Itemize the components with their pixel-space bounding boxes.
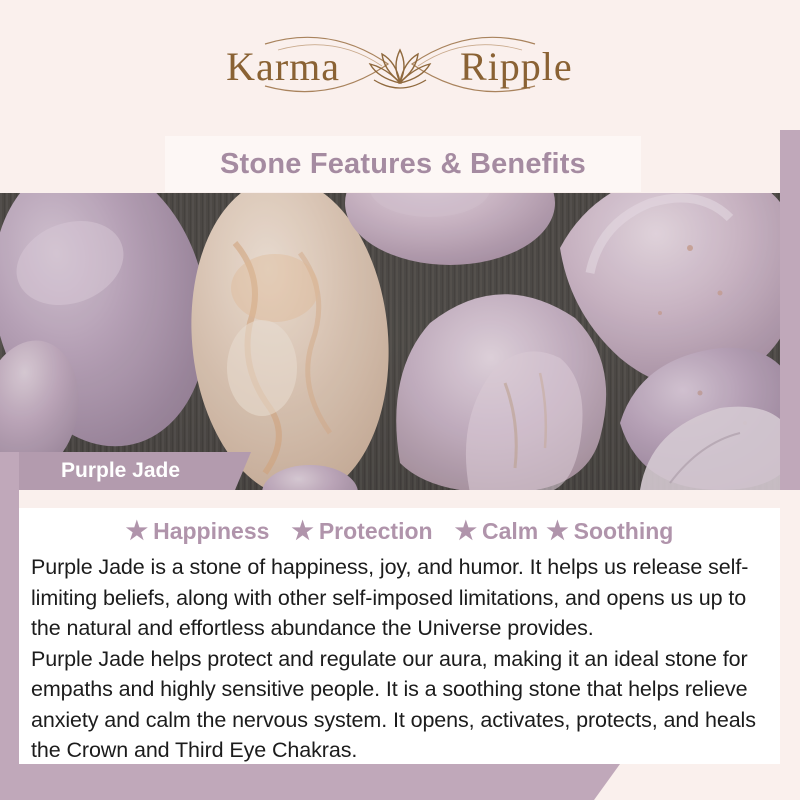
keyword-label: Protection [319, 518, 433, 545]
keyword-protection: ★ Protection [291, 518, 432, 545]
frame-band-bottom [0, 764, 620, 800]
description-paragraph-1: Purple Jade is a stone of happiness, joy… [31, 552, 779, 644]
product-info-card: Karma Ripple Stone Features & Benefits P… [0, 0, 800, 800]
lotus-icon [370, 50, 430, 88]
keyword-label: Happiness [153, 518, 269, 545]
star-icon: ★ [291, 519, 313, 544]
brand-name-left: Karma [226, 44, 340, 89]
brand-logo-graphic: Karma Ripple [170, 30, 630, 108]
stone-photo-illustration [0, 193, 800, 490]
frame-band-left [0, 452, 19, 800]
star-icon: ★ [455, 519, 477, 544]
page-title: Stone Features & Benefits [220, 148, 586, 181]
stone-name-label: Purple Jade [19, 459, 180, 483]
stone-photo [0, 193, 800, 490]
brand-header: Karma Ripple [0, 0, 800, 130]
stone-name-ribbon: Purple Jade [19, 452, 251, 490]
keyword-label: Soothing [574, 518, 674, 545]
description-panel: ★ Happiness ★ Protection ★ Calm ★ Soothi… [19, 500, 780, 764]
keyword-happiness: ★ Happiness [126, 518, 270, 545]
star-icon: ★ [126, 519, 148, 544]
section-title-banner: Stone Features & Benefits [165, 136, 641, 192]
star-icon: ★ [546, 519, 568, 544]
keyword-soothing: ★ Soothing [546, 518, 673, 545]
panel-top-strip [19, 500, 780, 508]
keyword-label: Calm [482, 518, 538, 545]
brand-name-right: Ripple [460, 44, 573, 89]
keyword-list: ★ Happiness ★ Protection ★ Calm ★ Soothi… [19, 510, 780, 552]
keyword-calm: ★ Calm [455, 518, 539, 545]
brand-logo: Karma Ripple [170, 30, 630, 108]
description-paragraph-2: Purple Jade helps protect and regulate o… [31, 644, 779, 766]
description-text: Purple Jade is a stone of happiness, joy… [31, 552, 779, 766]
